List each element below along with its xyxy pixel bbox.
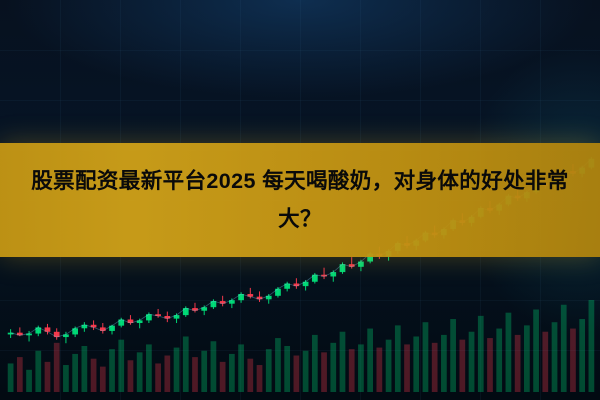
headline-banner: 股票配资最新平台2025 每天喝酸奶，对身体的好处非常大？ [0,143,600,257]
headline-text: 股票配资最新平台2025 每天喝酸奶，对身体的好处非常大？ [14,162,586,238]
chart-image: 股票配资最新平台2025 每天喝酸奶，对身体的好处非常大？ [0,0,600,400]
